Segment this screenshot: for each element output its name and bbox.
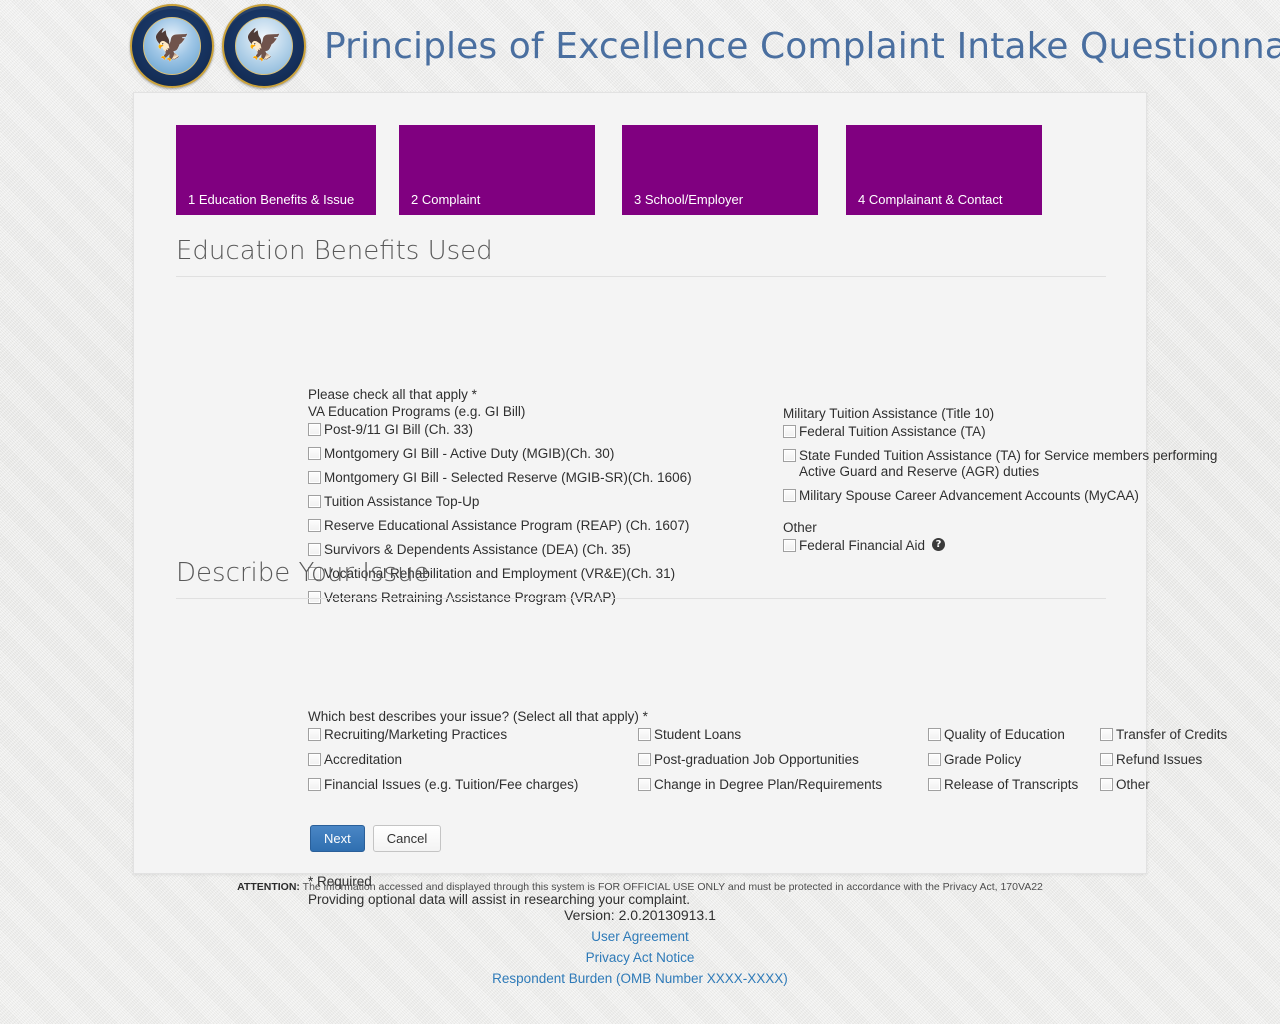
checkbox-label[interactable]: State Funded Tuition Assistance (TA) for… <box>799 448 1253 480</box>
checkbox-label[interactable]: Montgomery GI Bill - Active Duty (MGIB)(… <box>324 446 614 462</box>
checkbox-row-state-funded-tuition-assistance[interactable]: State Funded Tuition Assistance (TA) for… <box>783 448 1253 480</box>
checkbox-label[interactable]: Survivors & Dependents Assistance (DEA) … <box>324 542 631 558</box>
checkbox-row-mgib-active-duty[interactable]: Montgomery GI Bill - Active Duty (MGIB)(… <box>308 446 768 462</box>
attention-text: The information accessed and displayed t… <box>303 881 1043 893</box>
privacy-act-notice-link[interactable]: Privacy Act Notice <box>0 950 1280 965</box>
checkbox-row-accreditation[interactable]: Accreditation <box>308 752 638 768</box>
checkbox-release-of-transcripts[interactable] <box>928 778 941 791</box>
checkbox-row-mgib-selected-reserve[interactable]: Montgomery GI Bill - Selected Reserve (M… <box>308 470 768 486</box>
checkbox-row-tuition-assistance-top-up[interactable]: Tuition Assistance Top-Up <box>308 494 768 510</box>
checkbox-row-transfer-of-credits[interactable]: Transfer of Credits <box>1100 727 1260 743</box>
checkbox-row-refund-issues[interactable]: Refund Issues <box>1100 752 1260 768</box>
checkbox-label[interactable]: Grade Policy <box>944 752 1021 768</box>
checkbox-quality-of-education[interactable] <box>928 728 941 741</box>
describe-issue-block: Which best describes your issue? (Select… <box>308 709 1268 802</box>
checkbox-row-reap[interactable]: Reserve Educational Assistance Program (… <box>308 518 768 534</box>
section-heading-describe-your-issue: Describe Your Issue <box>176 558 1106 599</box>
checkbox-label[interactable]: Accreditation <box>324 752 402 768</box>
benefits-prompt: Please check all that apply * <box>308 387 768 402</box>
tab-label: 1 Education Benefits & Issue <box>188 192 354 207</box>
issue-prompt: Which best describes your issue? (Select… <box>308 709 1268 724</box>
checkbox-post-graduation-job-opportunities[interactable] <box>638 753 651 766</box>
wizard-tabs: 1 Education Benefits & Issue 2 Complaint… <box>176 125 1042 215</box>
checkbox-federal-financial-aid[interactable] <box>783 539 796 552</box>
checkbox-row-federal-financial-aid[interactable]: Federal Financial Aid ? <box>783 538 1253 554</box>
checkbox-dea[interactable] <box>308 543 321 556</box>
checkbox-row-dea[interactable]: Survivors & Dependents Assistance (DEA) … <box>308 542 768 558</box>
checkbox-label[interactable]: Release of Transcripts <box>944 777 1078 793</box>
checkbox-financial-issues[interactable] <box>308 778 321 791</box>
checkbox-other-issue[interactable] <box>1100 778 1113 791</box>
tab-complaint[interactable]: 2 Complaint <box>399 125 595 215</box>
checkbox-label[interactable]: Reserve Educational Assistance Program (… <box>324 518 689 534</box>
checkbox-label[interactable]: Post-9/11 GI Bill (Ch. 33) <box>324 422 473 438</box>
checkbox-student-loans[interactable] <box>638 728 651 741</box>
tab-complainant-and-contact[interactable]: 4 Complainant & Contact <box>846 125 1042 215</box>
military-tuition-assistance-label: Military Tuition Assistance (Title 10) <box>783 406 1253 421</box>
checkbox-grade-policy[interactable] <box>928 753 941 766</box>
dod-seal-eagle-icon: 🦅 <box>153 31 190 61</box>
checkbox-state-funded-tuition-assistance[interactable] <box>783 449 796 462</box>
cancel-button[interactable]: Cancel <box>373 825 441 852</box>
page-header: 🦅 🦅 Principles of Excellence Complaint I… <box>0 0 1280 92</box>
checkbox-row-release-of-transcripts[interactable]: Release of Transcripts <box>928 777 1100 793</box>
tab-label: 4 Complainant & Contact <box>858 192 1003 207</box>
checkbox-row-recruiting-marketing-practices[interactable]: Recruiting/Marketing Practices <box>308 727 638 743</box>
checkbox-label[interactable]: Tuition Assistance Top-Up <box>324 494 479 510</box>
education-benefits-right-column: Military Tuition Assistance (Title 10) F… <box>783 406 1253 562</box>
form-action-buttons: Next Cancel <box>310 825 441 852</box>
checkbox-label[interactable]: Post-graduation Job Opportunities <box>654 752 859 768</box>
version-text: Version: 2.0.20130913.1 <box>0 907 1280 923</box>
checkbox-row-financial-issues[interactable]: Financial Issues (e.g. Tuition/Fee charg… <box>308 777 638 793</box>
checkbox-recruiting-marketing-practices[interactable] <box>308 728 321 741</box>
other-benefits-label: Other <box>783 520 1253 535</box>
checkbox-mgib-active-duty[interactable] <box>308 447 321 460</box>
checkbox-label[interactable]: Federal Tuition Assistance (TA) <box>799 424 986 440</box>
user-agreement-link[interactable]: User Agreement <box>0 929 1280 944</box>
issue-checkbox-grid: Recruiting/Marketing Practices Student L… <box>308 727 1268 802</box>
checkbox-label[interactable]: Military Spouse Career Advancement Accou… <box>799 488 1139 504</box>
attention-label: ATTENTION: <box>237 881 300 893</box>
checkbox-label[interactable]: Montgomery GI Bill - Selected Reserve (M… <box>324 470 692 486</box>
checkbox-row-other-issue[interactable]: Other <box>1100 777 1260 793</box>
tab-label: 2 Complaint <box>411 192 480 207</box>
checkbox-label[interactable]: Transfer of Credits <box>1116 727 1227 743</box>
checkbox-label[interactable]: Other <box>1116 777 1150 793</box>
content-panel: 1 Education Benefits & Issue 2 Complaint… <box>133 92 1147 874</box>
checkbox-row-mycaa[interactable]: Military Spouse Career Advancement Accou… <box>783 488 1253 504</box>
va-education-programs-label: VA Education Programs (e.g. GI Bill) <box>308 404 768 419</box>
dod-seal: 🦅 <box>130 4 214 88</box>
checkbox-federal-tuition-assistance[interactable] <box>783 425 796 438</box>
checkbox-reap[interactable] <box>308 519 321 532</box>
page-footer: ATTENTION: The information accessed and … <box>0 880 1280 986</box>
checkbox-mycaa[interactable] <box>783 489 796 502</box>
va-seal: 🦅 <box>222 4 306 88</box>
checkbox-label[interactable]: Change in Degree Plan/Requirements <box>654 777 882 793</box>
checkbox-label[interactable]: Federal Financial Aid <box>799 538 925 554</box>
checkbox-row-federal-tuition-assistance[interactable]: Federal Tuition Assistance (TA) <box>783 424 1253 440</box>
checkbox-change-in-degree-plan[interactable] <box>638 778 651 791</box>
section-heading-education-benefits: Education Benefits Used <box>176 236 1106 277</box>
next-button[interactable]: Next <box>310 825 365 852</box>
checkbox-refund-issues[interactable] <box>1100 753 1113 766</box>
checkbox-accreditation[interactable] <box>308 753 321 766</box>
checkbox-label[interactable]: Recruiting/Marketing Practices <box>324 727 507 743</box>
checkbox-row-change-in-degree-plan[interactable]: Change in Degree Plan/Requirements <box>638 777 928 793</box>
help-icon[interactable]: ? <box>932 538 945 551</box>
checkbox-row-quality-of-education[interactable]: Quality of Education <box>928 727 1100 743</box>
tab-education-benefits-and-issue[interactable]: 1 Education Benefits & Issue <box>176 125 376 215</box>
checkbox-post-911-gi-bill[interactable] <box>308 423 321 436</box>
checkbox-tuition-assistance-top-up[interactable] <box>308 495 321 508</box>
page-title: Principles of Excellence Complaint Intak… <box>324 26 1280 67</box>
checkbox-label[interactable]: Student Loans <box>654 727 741 743</box>
checkbox-row-grade-policy[interactable]: Grade Policy <box>928 752 1100 768</box>
tab-label: 3 School/Employer <box>634 192 743 207</box>
va-seal-eagle-icon: 🦅 <box>245 31 282 61</box>
checkbox-row-student-loans[interactable]: Student Loans <box>638 727 928 743</box>
checkbox-row-post-graduation-job-opportunities[interactable]: Post-graduation Job Opportunities <box>638 752 928 768</box>
checkbox-transfer-of-credits[interactable] <box>1100 728 1113 741</box>
checkbox-label[interactable]: Financial Issues (e.g. Tuition/Fee charg… <box>324 777 578 793</box>
checkbox-label[interactable]: Quality of Education <box>944 727 1065 743</box>
attention-notice: ATTENTION: The information accessed and … <box>0 880 1280 894</box>
checkbox-row-post-911-gi-bill[interactable]: Post-9/11 GI Bill (Ch. 33) <box>308 422 768 438</box>
checkbox-label[interactable]: Refund Issues <box>1116 752 1202 768</box>
respondent-burden-link[interactable]: Respondent Burden (OMB Number XXXX-XXXX) <box>0 971 1280 986</box>
tab-school-employer[interactable]: 3 School/Employer <box>622 125 818 215</box>
checkbox-mgib-selected-reserve[interactable] <box>308 471 321 484</box>
